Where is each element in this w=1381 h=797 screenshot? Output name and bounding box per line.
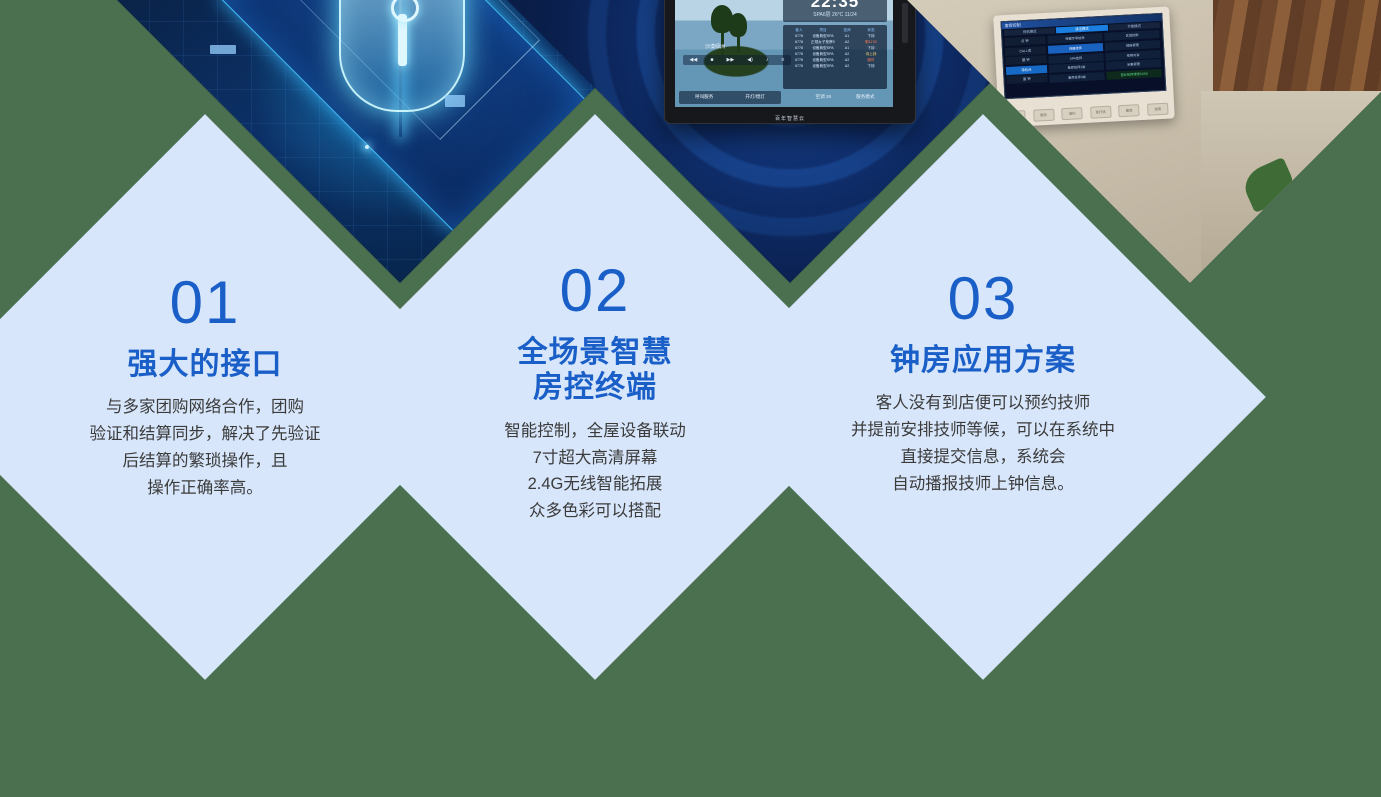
date-label: 11/24 — [845, 12, 857, 18]
side-item-4[interactable]: 直 钟 — [1007, 74, 1048, 84]
floor-label: SPA6层 — [813, 12, 830, 18]
spark-dot — [365, 145, 369, 149]
panel-side-menu[interactable]: 点 钟 CALL房 圈 钟 待机点 直 钟 — [1005, 36, 1048, 86]
prev-icon[interactable]: ◀◀ — [690, 56, 698, 62]
stop-icon[interactable]: ■ — [710, 56, 713, 62]
button-call[interactable]: 呼叫 — [1004, 111, 1026, 124]
tree-crown — [729, 13, 747, 37]
grid-item-9[interactable]: 营业技师排班52/58 — [1106, 70, 1162, 81]
button-clean[interactable]: 清扫 — [1062, 108, 1084, 121]
card-body: 客人没有到店便可以预约技师 并提前安排技师等候，可以在系统中 直接提交信息，系统… — [851, 390, 1115, 497]
cell-tech: A2 — [835, 62, 859, 68]
clock-time: 22:35 — [783, 0, 887, 11]
tablet-side-strip — [902, 2, 908, 42]
clock-widget: 22:35 SPA6层 26°C 11/24 — [783, 0, 887, 22]
list-icon[interactable]: ≡ — [781, 56, 784, 62]
tab-aircon[interactable]: 空调 26 — [816, 94, 832, 100]
card-number: 03 — [948, 269, 1019, 329]
plant — [1301, 203, 1361, 251]
cell-item: 设备典型SPA — [811, 63, 835, 69]
bottom-tabs-right[interactable]: 空调 26 服务模式 — [803, 91, 887, 104]
button-room[interactable]: 客房 — [1119, 105, 1141, 118]
plant — [1362, 132, 1381, 177]
panel-grid[interactable]: 保健专享技师 区域控制 保健技师 楼层管理 SPA技师 视频对讲 看房技师2层 … — [1047, 30, 1163, 83]
tab-lights[interactable]: 开灯/熄灯 — [745, 94, 765, 100]
next-icon[interactable]: ▶▶ — [726, 56, 734, 62]
card-title-line: 强大的接口 — [128, 347, 283, 382]
volume-icon[interactable]: ◀) — [747, 56, 753, 62]
chip-block — [445, 95, 465, 107]
media-title: 沙漠绿洲 — [705, 43, 725, 50]
cell-status: 下钟 — [859, 62, 883, 68]
tab-service-mode[interactable]: 服务模式 — [856, 94, 874, 100]
card-title: 钟房应用方案 — [890, 343, 1076, 378]
card-title: 全场景智慧 房控终端 — [518, 335, 673, 406]
media-controls[interactable]: ◀◀ ■ ▶▶ ◀) ♪ ≡ — [683, 55, 791, 65]
bottom-tabs-left[interactable]: 呼叫服务 开灯/熄灯 — [679, 91, 781, 104]
grid-item-8[interactable]: 看房技师3层 — [1049, 73, 1105, 84]
tab-call-service[interactable]: 呼叫服务 — [695, 94, 713, 100]
card-body: 与多家团购网络合作，团购 验证和结算同步，解决了先验证 后结算的繁琐操作，且 操… — [89, 394, 320, 501]
music-icon[interactable]: ♪ — [766, 57, 769, 63]
tablet-device: CSI280 22:35 — [664, 0, 916, 124]
card-body: 智能控制，全屋设备联动 7寸超大高清屏幕 2.4G无线智能拓展 众多色彩可以搭配 — [504, 418, 686, 525]
panel-screen: 客房控制 待机模式 清洁模式 节能模式 点 钟 CALL房 圈 钟 — [1001, 13, 1167, 99]
button-checkout[interactable]: 退房 — [1147, 103, 1169, 116]
card-title-line: 钟房应用方案 — [890, 343, 1076, 378]
feature-diamond-banner: 01 强大的接口 与多家团购网络合作，团购 验证和结算同步，解决了先验证 后结算… — [0, 0, 1381, 603]
tablet-brand-label: 百年智慧云 — [665, 115, 915, 122]
card-title-line: 全场景智慧 — [518, 335, 673, 370]
tablet-screen: 22:35 SPA6层 26°C 11/24 客人 项目 — [675, 0, 893, 107]
temp-label: 26°C — [832, 12, 843, 18]
card-title: 强大的接口 — [128, 347, 283, 382]
floor-surface — [1201, 91, 1381, 283]
card-number: 01 — [170, 273, 241, 333]
service-table: 客人 项目 技师 状态 6778 设备典型SPA A1 下钟 — [783, 25, 887, 89]
table-row: 6778 设备典型SPA A2 下钟 — [785, 63, 885, 69]
chip-block — [210, 45, 236, 54]
wall-control-panel[interactable]: 客房控制 待机模式 清洁模式 节能模式 点 钟 CALL房 圈 钟 — [993, 7, 1175, 128]
card-number: 02 — [560, 261, 631, 321]
button-service[interactable]: 服务 — [1033, 109, 1055, 122]
clock-meta: SPA6层 26°C 11/24 — [783, 11, 887, 19]
button-dnd[interactable]: 免打扰 — [1090, 106, 1112, 119]
panel-body: 点 钟 CALL房 圈 钟 待机点 直 钟 保健专享技师 区域控制 保健技 — [1003, 29, 1165, 87]
card-title-line: 房控终端 — [518, 370, 673, 405]
